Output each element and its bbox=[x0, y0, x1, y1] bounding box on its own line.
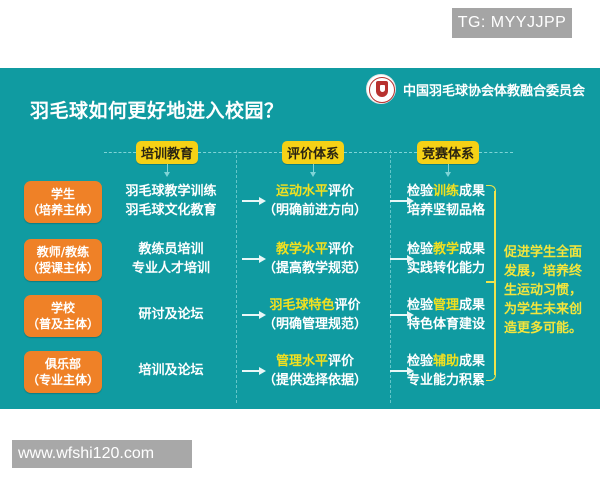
column-header-competition[interactable]: 竞赛体系 bbox=[417, 141, 479, 164]
conclusion-text: 促进学生全面发展，培养终生运动习惯，为学生未来创造更多可能。 bbox=[504, 243, 592, 338]
summary-brace bbox=[486, 185, 498, 381]
subject-badge-school[interactable]: 学校 （普及主体） bbox=[24, 295, 102, 337]
telegram-watermark: TG: MYYJJPP bbox=[452, 8, 572, 38]
subject-badge-student[interactable]: 学生 （培养主体） bbox=[24, 181, 102, 223]
subject-role: （普及主体） bbox=[27, 316, 99, 332]
evaluation-cell: 羽毛球特色评价 （明确管理规范） bbox=[248, 296, 382, 334]
competition-cell: 检验教学成果 实践转化能力 bbox=[398, 240, 494, 278]
training-cell: 研讨及论坛 bbox=[112, 305, 230, 324]
competition-cell: 检验辅助成果 专业能力积累 bbox=[398, 352, 494, 390]
subject-role: （授课主体） bbox=[27, 260, 99, 276]
evaluation-cell: 运动水平评价 （明确前进方向） bbox=[248, 182, 382, 220]
training-cell: 羽毛球教学训练 羽毛球文化教育 bbox=[112, 182, 230, 220]
competition-cell: 检验管理成果 特色体育建设 bbox=[398, 296, 494, 334]
subject-name: 学生 bbox=[51, 186, 75, 202]
subject-name: 俱乐部 bbox=[45, 356, 81, 372]
table-row: 俱乐部 （专业主体） 培训及论坛 管理水平评价 （提供选择依据） 检验辅助成果 … bbox=[0, 348, 600, 400]
header-dashed-rule bbox=[344, 152, 417, 153]
organization-block: 中国羽毛球协会体教融合委员会 bbox=[366, 74, 585, 104]
subject-name: 学校 bbox=[51, 300, 75, 316]
header-dashed-rule bbox=[104, 152, 136, 153]
subject-role: （专业主体） bbox=[27, 372, 99, 388]
evaluation-cell: 教学水平评价 （提高教学规范） bbox=[248, 240, 382, 278]
header-dashed-rule bbox=[479, 152, 513, 153]
training-cell: 教练员培训 专业人才培训 bbox=[112, 240, 230, 278]
organization-name: 中国羽毛球协会体教融合委员会 bbox=[403, 80, 585, 99]
table-row: 学生 （培养主体） 羽毛球教学训练 羽毛球文化教育 运动水平评价 （明确前进方向… bbox=[0, 178, 600, 230]
badminton-association-emblem-icon bbox=[366, 74, 396, 104]
subject-name: 教师/教练 bbox=[37, 244, 89, 260]
competition-cell: 检验训练成果 培养坚韧品格 bbox=[398, 182, 494, 220]
evaluation-cell: 管理水平评价 （提供选择依据） bbox=[248, 352, 382, 390]
subject-badge-club[interactable]: 俱乐部 （专业主体） bbox=[24, 351, 102, 393]
subject-badge-teacher-coach[interactable]: 教师/教练 （授课主体） bbox=[24, 239, 102, 281]
header-dashed-rule bbox=[198, 152, 282, 153]
training-cell: 培训及论坛 bbox=[112, 361, 230, 380]
column-header-training[interactable]: 培训教育 bbox=[136, 141, 198, 164]
column-header-evaluation[interactable]: 评价体系 bbox=[282, 141, 344, 164]
subject-role: （培养主体） bbox=[27, 202, 99, 218]
page-title: 羽毛球如何更好地进入校园？ bbox=[30, 96, 284, 123]
site-url-watermark: www.wfshi120.com bbox=[12, 440, 192, 468]
